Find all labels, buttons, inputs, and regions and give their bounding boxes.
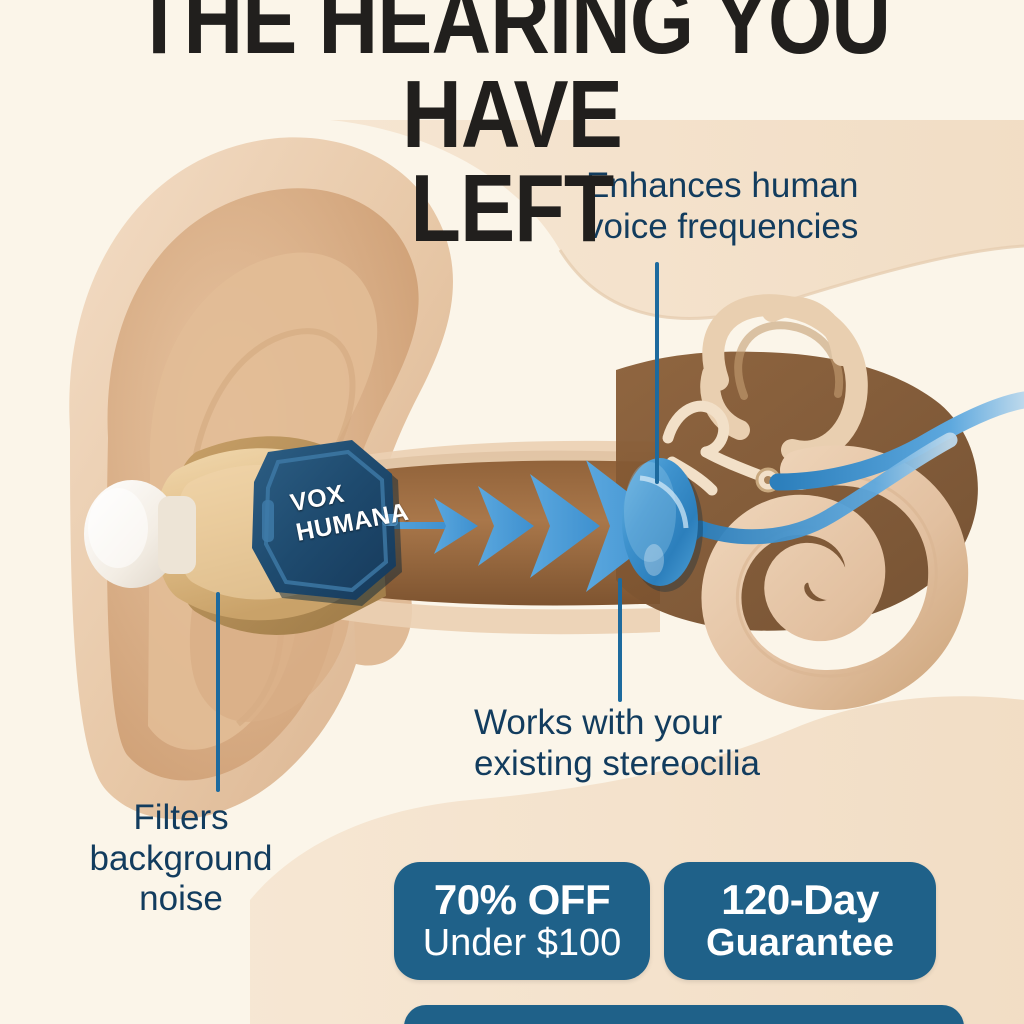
badge-guarantee[interactable]: 120-Day Guarantee [664,862,936,980]
callout-works-stereocilia: Works with your existing stereocilia [474,703,760,784]
badge-guarantee-headline: 120-Day [721,878,879,922]
badge-guarantee-subline: Guarantee [706,922,894,965]
leader-line-works [618,578,622,702]
badge-discount-subline: Under $100 [423,922,622,965]
callout-enhances-voice: Enhances human voice frequencies [586,166,858,247]
badge-discount-headline: 70% OFF [434,878,610,922]
badge-third-cropped[interactable] [404,1005,964,1024]
callout-filters-noise: Filters background noise [56,798,306,920]
leader-line-filters [216,592,220,792]
badge-discount[interactable]: 70% OFF Under $100 [394,862,650,980]
leader-line-enhances [655,262,659,484]
infographic-canvas: VOX HUMANA THE HEARING YOU HAVE LEFT Enh… [0,0,1024,1024]
